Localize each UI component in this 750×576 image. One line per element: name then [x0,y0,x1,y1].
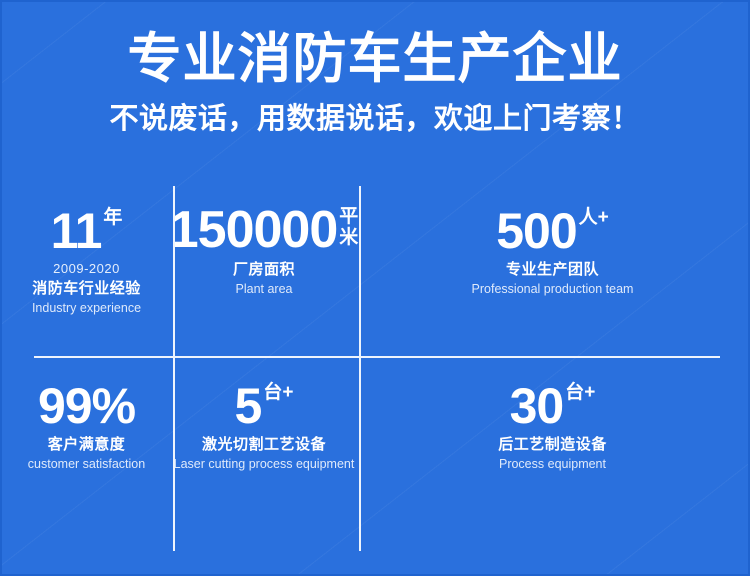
banner-panel: 专业消防车生产企业 不说废话，用数据说话，欢迎上门考察！ 11 年 2009-2… [2,2,748,574]
stat-unit: 人+ [579,208,609,228]
stat-value-line: 30 台+ [510,379,596,433]
page-subtitle: 不说废话，用数据说话，欢迎上门考察！ [2,102,748,136]
stat-label-en: Professional production team [472,281,634,297]
stat-number: 500 [496,204,576,258]
stat-cell-laser-cutting-equipment: 5 台+ 激光切割工艺设备 Laser cutting process equi… [171,357,357,528]
stat-unit: 台+ [565,383,595,403]
stats-row-top: 11 年 2009-2020 消防车行业经验 Industry experien… [2,186,748,357]
promo-banner: 专业消防车生产企业 不说废话，用数据说话，欢迎上门考察！ 11 年 2009-2… [0,0,750,576]
stat-value-line: 500 人+ [496,204,609,258]
stat-value-line: 11 年 [51,204,123,258]
grid-divider-vertical-right [359,186,361,551]
stat-unit: 台+ [263,383,293,403]
stat-label-en: Process equipment [499,456,606,472]
stat-number: 30 [510,379,564,433]
stat-label-en: Plant area [236,281,293,297]
stat-cell-plant-area: 150000 平 米 厂房面积 Plant area [171,186,357,357]
stat-label-cn: 消防车行业经验 [32,279,141,298]
stat-label-cn: 客户满意度 [48,435,126,454]
stat-sub-note: 2009-2020 [53,261,120,277]
stat-label-cn: 专业生产团队 [506,260,599,279]
stat-number: 5 [235,379,262,433]
stat-number: 99% [38,379,135,433]
stat-value-line: 150000 平 米 [170,202,359,258]
stat-label-cn: 厂房面积 [233,260,295,279]
stats-row-bottom: 99% 客户满意度 customer satisfaction 5 台+ 激光切… [2,357,748,528]
stats-grid: 11 年 2009-2020 消防车行业经验 Industry experien… [2,186,748,552]
banner-header: 专业消防车生产企业 不说废话，用数据说话，欢迎上门考察！ [2,2,748,136]
stat-label-cn: 后工艺制造设备 [498,435,607,454]
stat-cell-customer-satisfaction: 99% 客户满意度 customer satisfaction [2,357,171,528]
grid-divider-vertical-left [173,186,175,551]
page-title: 专业消防车生产企业 [2,28,748,90]
stat-value-line: 5 台+ [235,379,294,433]
stat-number: 11 [51,204,102,258]
stat-cell-industry-experience: 11 年 2009-2020 消防车行业经验 Industry experien… [2,186,171,357]
stat-value-line: 99% [38,379,135,433]
stat-cell-production-team: 500 人+ 专业生产团队 Professional production te… [357,186,748,357]
stat-number: 150000 [170,202,338,258]
stat-label-cn: 激光切割工艺设备 [202,435,326,454]
stat-label-en: Laser cutting process equipment [174,456,355,472]
grid-divider-horizontal [34,356,720,358]
stat-cell-process-equipment: 30 台+ 后工艺制造设备 Process equipment [357,357,748,528]
stat-unit: 平 米 [339,206,358,248]
stat-label-en: customer satisfaction [28,456,145,472]
stat-label-en: Industry experience [32,300,141,316]
stat-unit: 年 [103,208,122,228]
